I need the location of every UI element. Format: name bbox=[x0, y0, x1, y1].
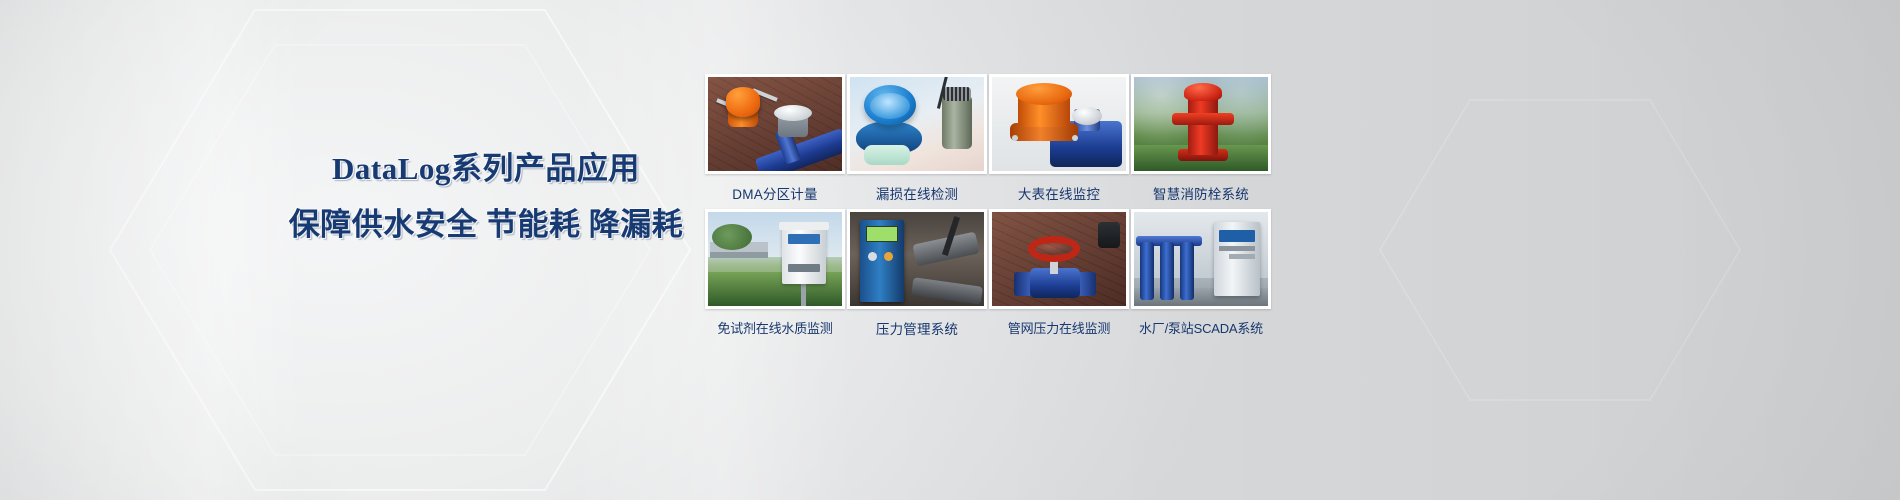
product-card-smart-hydrant-system[interactable]: 智慧消防栓系统 bbox=[1131, 74, 1271, 203]
product-card-reagent-free-water-quality[interactable]: 免试剂在线水质监测 bbox=[705, 209, 845, 338]
pressure-management-system-photo bbox=[850, 212, 984, 306]
banner-headline: DataLog系列产品应用 保障供水安全 节能耗 降漏耗 bbox=[276, 148, 696, 246]
pipe-network-pressure-photo bbox=[992, 212, 1126, 306]
product-card-waterworks-scada[interactable]: 水厂/泵站SCADA系统 bbox=[1131, 209, 1271, 338]
product-thumbnail[interactable] bbox=[989, 209, 1129, 309]
leak-online-detection-photo bbox=[850, 77, 984, 171]
product-caption: 免试剂在线水质监测 bbox=[705, 318, 845, 337]
product-thumbnail[interactable] bbox=[705, 209, 845, 309]
product-caption: 水厂/泵站SCADA系统 bbox=[1131, 318, 1271, 337]
product-thumbnail[interactable] bbox=[847, 209, 987, 309]
smart-hydrant-system-photo bbox=[1134, 77, 1268, 171]
product-banner: DataLog系列产品应用 保障供水安全 节能耗 降漏耗 DMA分区计量 bbox=[0, 0, 1900, 500]
product-caption: 大表在线监控 bbox=[989, 183, 1129, 203]
product-caption: DMA分区计量 bbox=[705, 183, 845, 203]
headline-line-1: DataLog系列产品应用 bbox=[276, 148, 696, 190]
product-grid: DMA分区计量 漏损在线检测 大表在线监控 bbox=[705, 74, 1271, 338]
headline-line-2: 保障供水安全 节能耗 降漏耗 bbox=[276, 204, 696, 246]
large-meter-online-monitoring-photo bbox=[992, 77, 1126, 171]
product-card-pipe-network-pressure[interactable]: 管网压力在线监测 bbox=[989, 209, 1129, 338]
reagent-free-water-quality-photo bbox=[708, 212, 842, 306]
product-card-pressure-management-system[interactable]: 压力管理系统 bbox=[847, 209, 987, 338]
product-card-dma-partition-metering[interactable]: DMA分区计量 bbox=[705, 74, 845, 203]
product-caption: 压力管理系统 bbox=[847, 318, 987, 338]
product-caption: 智慧消防栓系统 bbox=[1131, 183, 1271, 203]
product-thumbnail[interactable] bbox=[1131, 74, 1271, 174]
product-card-large-meter-online-monitoring[interactable]: 大表在线监控 bbox=[989, 74, 1129, 203]
waterworks-scada-photo bbox=[1134, 212, 1268, 306]
product-caption: 管网压力在线监测 bbox=[989, 318, 1129, 337]
product-thumbnail[interactable] bbox=[989, 74, 1129, 174]
product-thumbnail[interactable] bbox=[847, 74, 987, 174]
product-thumbnail[interactable] bbox=[705, 74, 845, 174]
dma-partition-metering-photo bbox=[708, 77, 842, 171]
product-card-leak-online-detection[interactable]: 漏损在线检测 bbox=[847, 74, 987, 203]
product-caption: 漏损在线检测 bbox=[847, 183, 987, 203]
product-thumbnail[interactable] bbox=[1131, 209, 1271, 309]
